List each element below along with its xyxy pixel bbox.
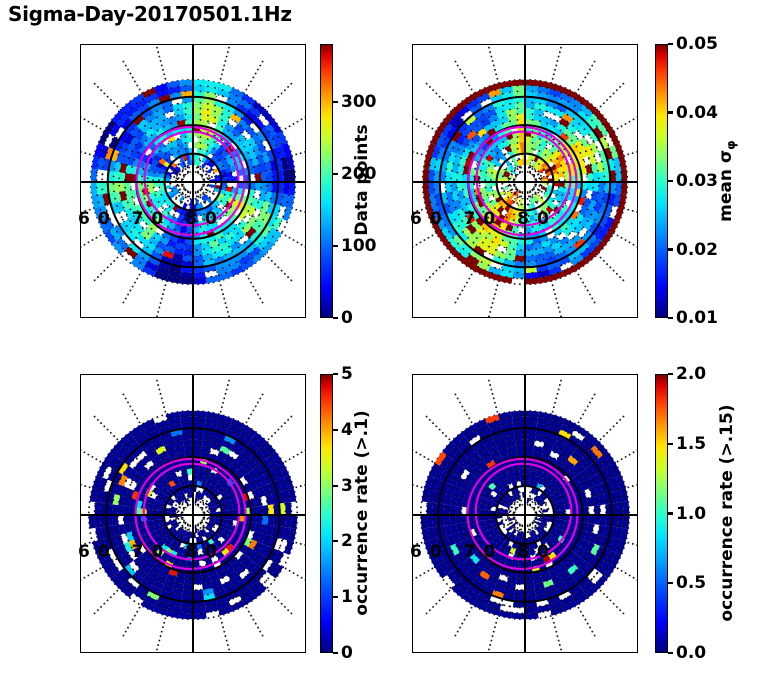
tick-mark <box>333 596 338 598</box>
tick-mark <box>333 485 338 487</box>
page-title: Sigma-Day-20170501.1Hz <box>8 2 292 26</box>
colorbar-tick: 3 <box>333 476 353 496</box>
tick-mark <box>333 173 338 175</box>
panel-occurrence-rate-015: 60 70 80 <box>412 374 638 653</box>
tick-label: 1.5 <box>676 434 706 454</box>
latitude-tick-labels: 60 70 80 <box>410 209 557 229</box>
tick-mark <box>333 373 338 375</box>
polar-plot-mean-sigma-phi <box>412 44 638 318</box>
colorbar-tick: 4 <box>333 420 353 440</box>
panel-data-points: 60 70 80 <box>80 44 306 318</box>
colorbar-tick: 5 <box>333 364 353 384</box>
colorbar-tick: 1.0 <box>668 504 706 524</box>
tick-label: 0.02 <box>676 240 718 260</box>
colorbar-tick: 0.0 <box>668 643 706 663</box>
latitude-tick-labels: 60 70 80 <box>410 542 557 562</box>
tick-mark <box>668 443 673 445</box>
colorbar-label: Data points <box>352 70 372 290</box>
colorbar-tick: 0.02 <box>668 240 718 260</box>
tick-mark <box>333 429 338 431</box>
colorbar-label: occurrence rate (>.1) <box>352 383 372 643</box>
colorbar-mean-sigma-phi: 0.010.020.030.040.05 mean σφ <box>655 44 668 318</box>
tick-mark <box>333 652 338 654</box>
panel-mean-sigma-phi: 60 70 80 <box>412 44 638 318</box>
tick-mark <box>333 101 338 103</box>
tick-label: 0.04 <box>676 103 718 123</box>
colorbar-gradient <box>655 44 668 318</box>
colorbar-data-points: 0100200300 Data points <box>320 44 333 318</box>
tick-label: 0.01 <box>676 308 718 328</box>
tick-mark <box>668 43 673 45</box>
colorbar-gradient <box>320 374 333 653</box>
colorbar-tick: 0 <box>333 308 353 328</box>
tick-label: 1.0 <box>676 504 706 524</box>
tick-mark <box>668 180 673 182</box>
polar-plot-occurrence-rate-01 <box>80 374 306 653</box>
colorbar-label: occurrence rate (>.15) <box>717 378 737 648</box>
tick-label: 0 <box>341 643 353 663</box>
colorbar-tick: 0.03 <box>668 171 718 191</box>
polar-plot-occurrence-rate-015 <box>412 374 638 653</box>
colorbar-tick: 1.5 <box>668 434 706 454</box>
latitude-tick-labels: 60 70 80 <box>78 542 225 562</box>
tick-mark <box>668 512 673 514</box>
tick-label: 0.0 <box>676 643 706 663</box>
colorbar-tick: 0.05 <box>668 34 718 54</box>
colorbar-tick: 1 <box>333 587 353 607</box>
colorbar-tick: 0.5 <box>668 573 706 593</box>
tick-label: 0 <box>341 308 353 328</box>
tick-mark <box>333 317 338 319</box>
polar-plot-data-points <box>80 44 306 318</box>
colorbar-tick: 0.01 <box>668 308 718 328</box>
colorbar-tick: 0 <box>333 643 353 663</box>
colorbar-gradient <box>320 44 333 318</box>
tick-label: 0.03 <box>676 171 718 191</box>
tick-label: 5 <box>341 364 353 384</box>
tick-label: 2.0 <box>676 364 706 384</box>
tick-mark <box>668 111 673 113</box>
colorbar-tick: 0.04 <box>668 103 718 123</box>
colorbar-occurrence-rate-015: 0.00.51.01.52.0 occurrence rate (>.15) <box>655 374 668 653</box>
colorbar-tick: 2.0 <box>668 364 706 384</box>
tick-mark <box>668 248 673 250</box>
tick-label: 0.5 <box>676 573 706 593</box>
tick-mark <box>333 540 338 542</box>
latitude-tick-labels: 60 70 80 <box>78 209 225 229</box>
colorbar-tick: 2 <box>333 531 353 551</box>
tick-mark <box>668 582 673 584</box>
colorbar-label: mean σφ <box>716 71 738 291</box>
panel-occurrence-rate-01: 60 70 80 <box>80 374 306 653</box>
colorbar-gradient <box>655 374 668 653</box>
colorbar-occurrence-rate-01: 012345 occurrence rate (>.1) <box>320 374 333 653</box>
tick-mark <box>668 373 673 375</box>
tick-mark <box>333 245 338 247</box>
tick-mark <box>668 652 673 654</box>
tick-label: 0.05 <box>676 34 718 54</box>
tick-mark <box>668 317 673 319</box>
